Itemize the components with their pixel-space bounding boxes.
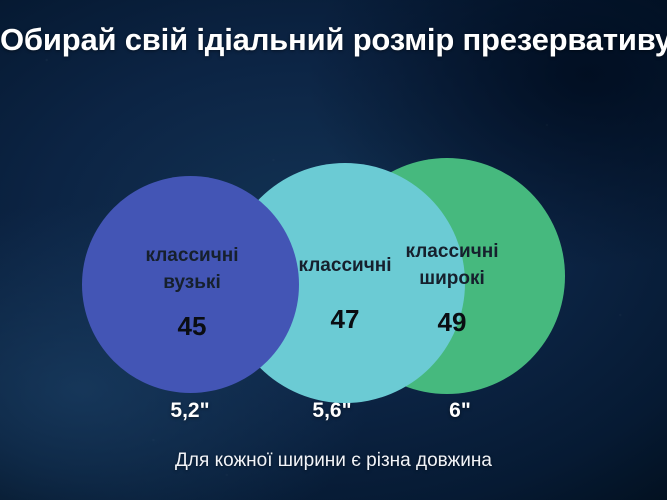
circle-classic-narrow[interactable] — [82, 176, 299, 393]
footer-caption: Для кожної ширини є різна довжина — [0, 450, 667, 472]
venn-diagram: классичні вузькі 45 классичні 47 классич… — [0, 0, 667, 500]
slide-canvas: Обирай свій ідіальний розмір презерватив… — [0, 0, 667, 500]
width-label-classic-wide: 6" — [400, 399, 520, 423]
width-label-classic-regular: 5,6" — [272, 399, 392, 423]
width-label-classic-narrow: 5,2" — [130, 399, 250, 423]
